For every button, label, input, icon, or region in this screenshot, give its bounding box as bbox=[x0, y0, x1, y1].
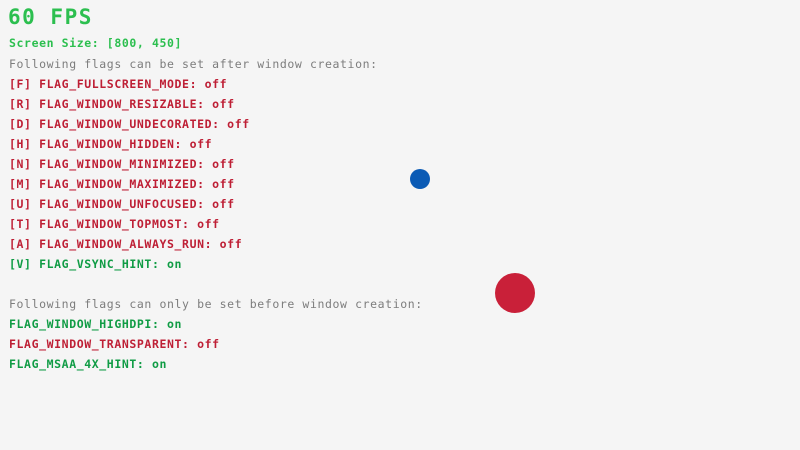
flag-row-window-unfocused[interactable]: [U] FLAG_WINDOW_UNFOCUSED: off bbox=[9, 199, 235, 211]
flag-row-window-minimized[interactable]: [N] FLAG_WINDOW_MINIMIZED: off bbox=[9, 159, 235, 171]
creation-flags-heading: Following flags can only be set before w… bbox=[9, 299, 423, 311]
flag-row-msaa-4x-hint: FLAG_MSAA_4X_HINT: on bbox=[9, 359, 167, 371]
app-canvas[interactable]: 60 FPS Screen Size: [800, 450] Following… bbox=[0, 0, 800, 450]
flag-row-window-topmost[interactable]: [T] FLAG_WINDOW_TOPMOST: off bbox=[9, 219, 220, 231]
flag-row-window-always-run[interactable]: [A] FLAG_WINDOW_ALWAYS_RUN: off bbox=[9, 239, 242, 251]
flag-row-window-hidden[interactable]: [H] FLAG_WINDOW_HIDDEN: off bbox=[9, 139, 212, 151]
flag-row-window-transparent: FLAG_WINDOW_TRANSPARENT: off bbox=[9, 339, 220, 351]
runtime-flags-heading: Following flags can be set after window … bbox=[9, 59, 378, 71]
flag-row-fullscreen-mode[interactable]: [F] FLAG_FULLSCREEN_MODE: off bbox=[9, 79, 227, 91]
flag-row-window-undecorated[interactable]: [D] FLAG_WINDOW_UNDECORATED: off bbox=[9, 119, 250, 131]
blue-ball-shape bbox=[410, 169, 430, 189]
fps-counter: 60 FPS bbox=[8, 7, 93, 28]
screen-size-label: Screen Size: [800, 450] bbox=[9, 38, 182, 50]
flag-row-window-resizable[interactable]: [R] FLAG_WINDOW_RESIZABLE: off bbox=[9, 99, 235, 111]
flag-row-window-maximized[interactable]: [M] FLAG_WINDOW_MAXIMIZED: off bbox=[9, 179, 235, 191]
flag-row-window-highdpi: FLAG_WINDOW_HIGHDPI: on bbox=[9, 319, 182, 331]
red-ball-shape bbox=[495, 273, 535, 313]
flag-row-vsync-hint[interactable]: [V] FLAG_VSYNC_HINT: on bbox=[9, 259, 182, 271]
